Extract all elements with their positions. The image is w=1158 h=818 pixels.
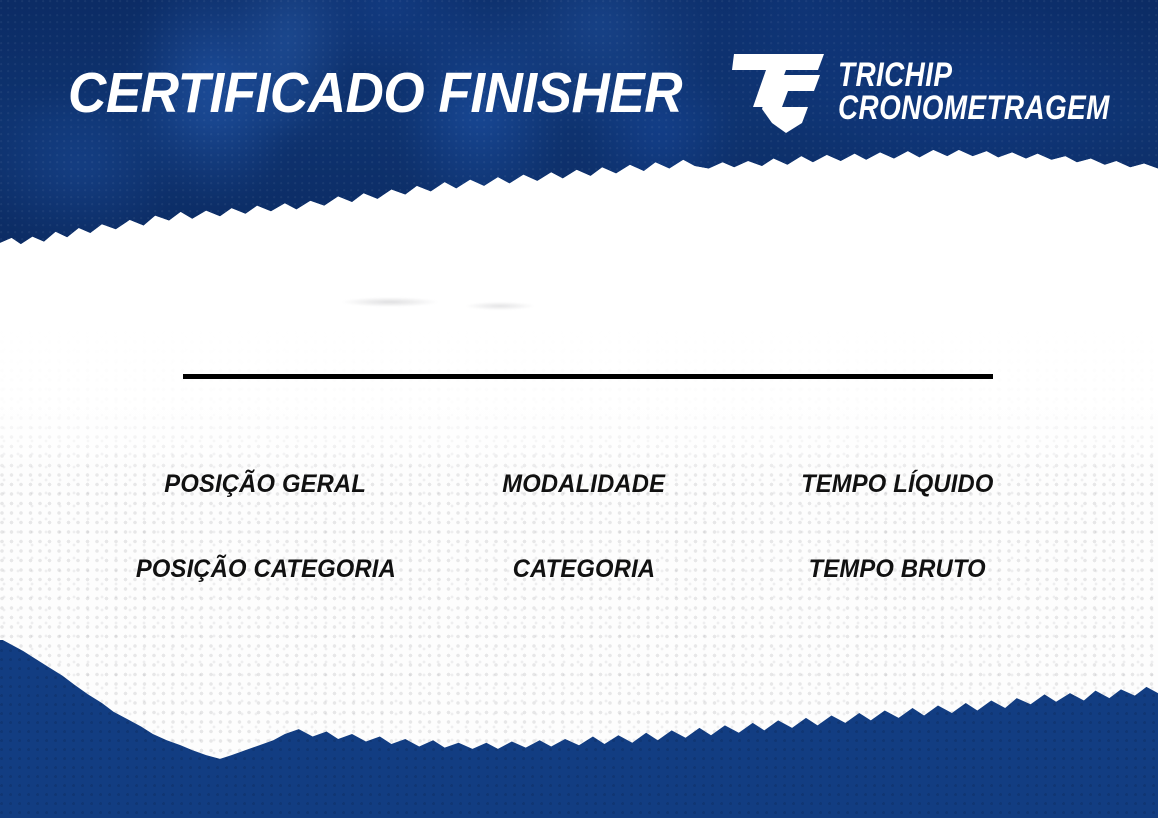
tc-monogram-icon bbox=[728, 51, 824, 133]
posicao-categoria-label: POSIÇÃO CATEGORIA bbox=[135, 555, 395, 584]
categoria-label: CATEGORIA bbox=[513, 555, 655, 584]
trichip-logo: TRICHIP CRONOMETRAGEM bbox=[728, 51, 1158, 133]
logo-line-trichip: TRICHIP bbox=[838, 59, 1110, 92]
field-label-tempo-liquido: TEMPO LÍQUIDO bbox=[741, 470, 1055, 499]
logo-wordmark: TRICHIP CRONOMETRAGEM bbox=[838, 59, 1158, 126]
participant-name-line[interactable] bbox=[183, 374, 993, 379]
field-label-modalidade: MODALIDADE bbox=[427, 470, 741, 499]
modalidade-label: MODALIDADE bbox=[502, 470, 665, 499]
certificate-page: CERTIFICADO FINISHER bbox=[0, 0, 1158, 818]
field-label-categoria: CATEGORIA bbox=[427, 555, 741, 584]
tempo-liquido-label: TEMPO LÍQUIDO bbox=[801, 470, 993, 499]
field-label-tempo-bruto: TEMPO BRUTO bbox=[741, 555, 1055, 584]
posicao-geral-label: POSIÇÃO GERAL bbox=[165, 470, 367, 499]
logo-line-cronometragem: CRONOMETRAGEM bbox=[838, 92, 1110, 125]
field-label-posicao-geral: POSIÇÃO GERAL bbox=[104, 470, 427, 499]
certificate-title: CERTIFICADO FINISHER bbox=[68, 65, 682, 122]
field-row-1: POSIÇÃO GERAL MODALIDADE TEMPO LÍQUIDO bbox=[104, 470, 1054, 499]
field-label-posicao-categoria: POSIÇÃO CATEGORIA bbox=[104, 555, 427, 584]
tempo-bruto-label: TEMPO BRUTO bbox=[809, 555, 986, 584]
field-row-2: POSIÇÃO CATEGORIA CATEGORIA TEMPO BRUTO bbox=[104, 555, 1054, 584]
certificate-body: POSIÇÃO GERAL MODALIDADE TEMPO LÍQUIDO P… bbox=[0, 150, 1158, 770]
result-fields: POSIÇÃO GERAL MODALIDADE TEMPO LÍQUIDO P… bbox=[104, 470, 1054, 584]
